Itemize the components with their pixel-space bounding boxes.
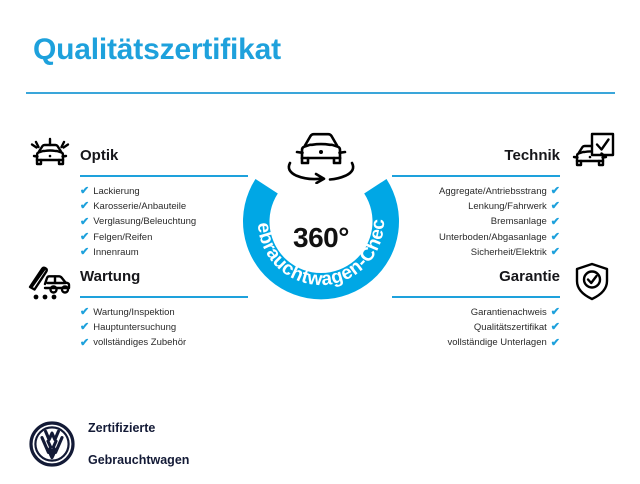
- check-icon: ✔: [551, 322, 560, 333]
- list-item-label: Lenkung/Fahrwerk: [468, 199, 547, 214]
- list-item-label: Innenraum: [93, 245, 138, 260]
- check-icon: ✔: [551, 217, 560, 228]
- car-wrench-icon: [23, 262, 73, 309]
- section-garantie-header: Garantie: [392, 268, 560, 298]
- list-item: ✔Wartung/Inspektion: [80, 305, 248, 320]
- list-item-label: vollständiges Zubehör: [93, 335, 186, 350]
- section-wartung-header: Wartung: [80, 268, 248, 298]
- section-wartung-underline: [80, 296, 248, 298]
- car-shine-icon: [26, 132, 74, 181]
- footer-brand-text: Zertifizierte Gebrauchtwagen: [88, 404, 189, 484]
- list-item-label: Felgen/Reifen: [93, 230, 152, 245]
- list-item-label: Hauptuntersuchung: [93, 320, 176, 335]
- badge-360-check: Gebrauchtwagen-Check 360°: [228, 122, 414, 308]
- section-garantie-list: Garantienachweis✔ Qualitätszertifikat✔ v…: [392, 305, 560, 351]
- section-optik-underline: [80, 175, 248, 177]
- list-item: ✔Innenraum: [80, 245, 248, 260]
- list-item: ✔Felgen/Reifen: [80, 230, 248, 245]
- list-item: vollständige Unterlagen✔: [392, 335, 560, 350]
- check-icon: ✔: [551, 232, 560, 243]
- list-item-label: Sicherheit/Elektrik: [471, 245, 547, 260]
- section-garantie-title: Garantie: [392, 268, 560, 286]
- section-technik-list: Aggregate/Antriebsstrang✔ Lenkung/Fahrwe…: [392, 184, 560, 260]
- check-icon: ✔: [551, 186, 560, 197]
- car-checkbox-icon: [566, 131, 616, 182]
- list-item: ✔Verglasung/Beleuchtung: [80, 214, 248, 229]
- list-item: Bremsanlage✔: [392, 214, 560, 229]
- shield-check-icon: [572, 261, 612, 308]
- list-item: ✔Hauptuntersuchung: [80, 320, 248, 335]
- section-technik-header: Technik: [392, 147, 560, 177]
- list-item: Aggregate/Antriebsstrang✔: [392, 184, 560, 199]
- section-technik: Technik Aggregate/Antriebsstrang✔ Lenkun…: [392, 147, 560, 260]
- list-item-label: vollständige Unterlagen: [447, 335, 546, 350]
- list-item: Unterboden/Abgasanlage✔: [392, 230, 560, 245]
- footer-line-1: Zertifizierte: [88, 420, 189, 436]
- list-item-label: Verglasung/Beleuchtung: [93, 214, 196, 229]
- check-icon: ✔: [80, 232, 89, 243]
- check-icon: ✔: [551, 307, 560, 318]
- section-technik-underline: [392, 175, 560, 177]
- section-optik-header: Optik: [80, 147, 248, 177]
- list-item: ✔Karosserie/Anbauteile: [80, 199, 248, 214]
- badge-center-label: 360°: [228, 222, 414, 254]
- section-optik: Optik ✔Lackierung ✔Karosserie/Anbauteile…: [80, 147, 248, 260]
- certificate-page: Qualitätszertifikat: [0, 0, 640, 480]
- check-icon: ✔: [551, 247, 560, 258]
- check-icon: ✔: [551, 338, 560, 349]
- list-item-label: Aggregate/Antriebsstrang: [439, 184, 547, 199]
- list-item: Qualitätszertifikat✔: [392, 320, 560, 335]
- page-title: Qualitätszertifikat: [33, 33, 281, 67]
- list-item: Sicherheit/Elektrik✔: [392, 245, 560, 260]
- check-icon: ✔: [80, 338, 89, 349]
- section-technik-title: Technik: [392, 147, 560, 165]
- list-item: Garantienachweis✔: [392, 305, 560, 320]
- check-icon: ✔: [80, 217, 89, 228]
- list-item: ✔vollständiges Zubehör: [80, 335, 248, 350]
- section-garantie: Garantie Garantienachweis✔ Qualitätszert…: [392, 268, 560, 351]
- section-wartung-list: ✔Wartung/Inspektion ✔Hauptuntersuchung ✔…: [80, 305, 248, 351]
- list-item-label: Qualitätszertifikat: [474, 320, 547, 335]
- footer-line-2: Gebrauchtwagen: [88, 452, 189, 468]
- check-icon: ✔: [80, 247, 89, 258]
- list-item-label: Unterboden/Abgasanlage: [439, 230, 547, 245]
- section-garantie-underline: [392, 296, 560, 298]
- footer-brand: Zertifizierte Gebrauchtwagen: [29, 404, 189, 484]
- list-item-label: Lackierung: [93, 184, 139, 199]
- list-item-label: Bremsanlage: [491, 214, 547, 229]
- list-item-label: Karosserie/Anbauteile: [93, 199, 186, 214]
- list-item-label: Garantienachweis: [471, 305, 547, 320]
- section-wartung-title: Wartung: [80, 268, 248, 286]
- list-item: ✔Lackierung: [80, 184, 248, 199]
- car-rotate-icon: [278, 122, 364, 189]
- list-item-label: Wartung/Inspektion: [93, 305, 175, 320]
- check-icon: ✔: [80, 186, 89, 197]
- check-icon: ✔: [80, 307, 89, 318]
- check-icon: ✔: [80, 201, 89, 212]
- header-divider: [26, 92, 615, 94]
- volkswagen-logo: [29, 421, 75, 467]
- list-item: Lenkung/Fahrwerk✔: [392, 199, 560, 214]
- section-optik-title: Optik: [80, 147, 248, 165]
- check-icon: ✔: [551, 201, 560, 212]
- section-wartung: Wartung ✔Wartung/Inspektion ✔Hauptunters…: [80, 268, 248, 351]
- section-optik-list: ✔Lackierung ✔Karosserie/Anbauteile ✔Verg…: [80, 184, 248, 260]
- check-icon: ✔: [80, 322, 89, 333]
